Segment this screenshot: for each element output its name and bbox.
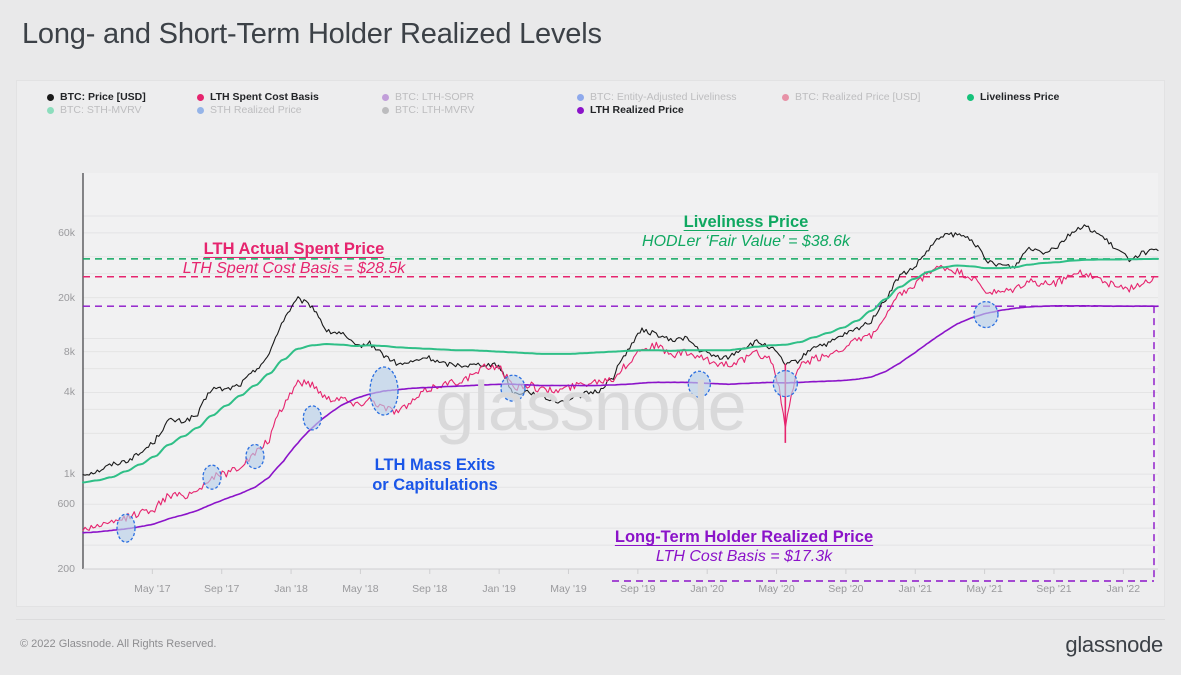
annotation-subtitle: LTH Cost Basis = $17.3k	[615, 547, 873, 567]
annotation-title: Liveliness Price	[642, 212, 850, 232]
plot-area: 2006001k4k8k20k60k May '17Sep '17Jan '18…	[17, 81, 1166, 608]
x-axis-tick-label: Jan '20	[690, 583, 724, 595]
annotation-lth-mass-exits: LTH Mass Exits or Capitulations	[372, 455, 498, 495]
chart-panel: BTC: Price [USD]LTH Spent Cost BasisBTC:…	[16, 80, 1165, 607]
glassnode-logo: glassnode	[1065, 632, 1163, 658]
x-axis-tick-label: Jan '18	[274, 583, 308, 595]
x-axis-tick-label: May '17	[134, 583, 170, 595]
x-axis-tick-label: May '21	[966, 583, 1002, 595]
annotation-subtitle: or Capitulations	[372, 475, 498, 495]
annotation-subtitle: LTH Spent Cost Basis = $28.5k	[183, 259, 405, 279]
x-axis-tick-label: Sep '21	[1036, 583, 1071, 595]
annotation-lth-actual-spent-price: LTH Actual Spent Price LTH Spent Cost Ba…	[183, 239, 405, 279]
annotation-title: Long-Term Holder Realized Price	[615, 527, 873, 547]
x-axis-tick-label: Sep '17	[204, 583, 239, 595]
x-axis-tick-label: Jan '22	[1107, 583, 1141, 595]
x-axis-tick-label: Sep '19	[620, 583, 655, 595]
annotation-subtitle: HODLer ‘Fair Value’ = $38.6k	[642, 232, 850, 252]
annotation-liveliness-price: Liveliness Price HODLer ‘Fair Value’ = $…	[642, 212, 850, 252]
x-axis-tick-label: Sep '20	[828, 583, 863, 595]
x-axis-tick-label: May '18	[342, 583, 378, 595]
x-axis-tick-label: Jan '21	[898, 583, 932, 595]
x-axis-ticks: May '17Sep '17Jan '18May '18Sep '18Jan '…	[17, 81, 1166, 608]
footer-divider	[16, 619, 1165, 620]
x-axis-tick-label: Sep '18	[412, 583, 447, 595]
annotation-long-term-holder-realized-price: Long-Term Holder Realized Price LTH Cost…	[615, 527, 873, 567]
annotation-title: LTH Actual Spent Price	[183, 239, 405, 259]
x-axis-tick-label: May '20	[758, 583, 794, 595]
copyright-text: © 2022 Glassnode. All Rights Reserved.	[20, 638, 216, 650]
annotation-title: LTH Mass Exits	[372, 455, 498, 475]
page-title: Long- and Short-Term Holder Realized Lev…	[22, 18, 602, 51]
x-axis-tick-label: May '19	[550, 583, 586, 595]
x-axis-tick-label: Jan '19	[482, 583, 516, 595]
